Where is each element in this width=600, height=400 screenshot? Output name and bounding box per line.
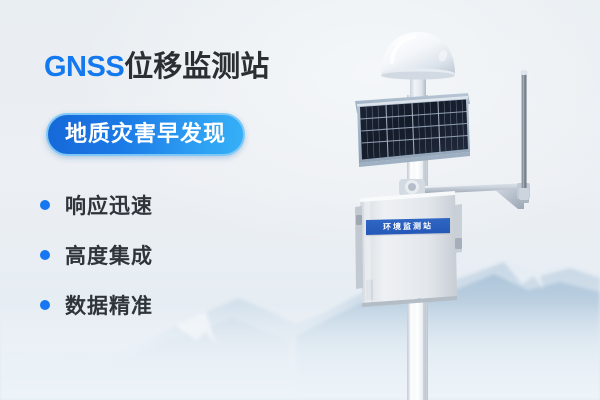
solar-panel	[355, 93, 470, 167]
instrument-enclosure	[355, 191, 462, 307]
gnss-monitoring-station-illustration	[0, 0, 600, 400]
whip-antenna	[519, 70, 529, 200]
gnss-antenna-dome	[381, 32, 455, 80]
enclosure-label: 环境监测站	[366, 218, 450, 235]
banner-root: GNSS位移监测站 地质灾害早发现 响应迅速 高度集成 数据精准	[0, 0, 600, 400]
